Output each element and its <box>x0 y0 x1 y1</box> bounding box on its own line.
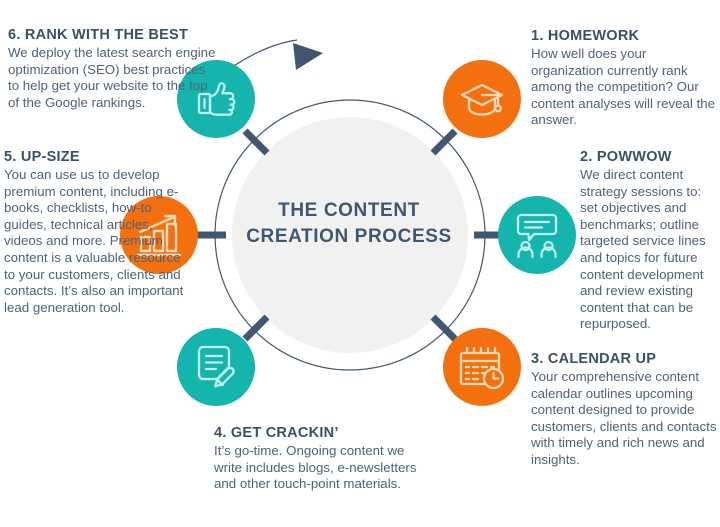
graduation-cap-icon <box>458 75 506 123</box>
step-text-5: 5. UP-SIZE You can use us to develop pre… <box>4 148 190 316</box>
step-title-2: 2. POWWOW <box>580 148 720 166</box>
step-node-3[interactable] <box>443 328 521 406</box>
speech-bubble-people-icon <box>512 210 562 260</box>
calendar-clock-icon <box>457 342 507 392</box>
step-text-1: 1. HOMEWORK How well does your organizat… <box>531 27 717 129</box>
step-text-3: 3. CALENDAR UP Your comprehensive conten… <box>531 350 720 469</box>
flow-arrow-head-icon <box>293 43 323 70</box>
step-body-6: We deploy the latest search engine optim… <box>8 45 220 111</box>
center-title-line2: CREATION PROCESS <box>228 224 470 250</box>
step-body-1: How well does your organization currentl… <box>531 46 717 129</box>
step-body-3: Your comprehensive content calendar outl… <box>531 369 720 469</box>
step-title-6: 6. RANK WITH THE BEST <box>8 26 220 44</box>
step-node-1[interactable] <box>443 60 521 138</box>
step-title-5: 5. UP-SIZE <box>4 148 190 166</box>
step-node-4[interactable] <box>177 328 255 406</box>
step-text-2: 2. POWWOW We direct content strategy ses… <box>580 148 720 333</box>
spoke-step-6 <box>245 131 267 153</box>
step-node-2[interactable] <box>498 196 576 274</box>
step-title-1: 1. HOMEWORK <box>531 27 717 45</box>
step-title-3: 3. CALENDAR UP <box>531 350 720 368</box>
spoke-step-3 <box>433 317 455 339</box>
document-pencil-icon <box>192 343 240 391</box>
step-body-4: It’s go-time. Ongoing content we write i… <box>214 443 426 493</box>
step-title-4: 4. GET CRACKIN’ <box>214 424 426 442</box>
step-body-2: We direct content strategy sessions to: … <box>580 167 720 333</box>
center-title-line1: THE CONTENT <box>278 200 420 221</box>
spoke-step-1 <box>433 131 455 153</box>
step-text-4: 4. GET CRACKIN’ It’s go-time. Ongoing co… <box>214 424 426 493</box>
center-title: THE CONTENT CREATION PROCESS <box>228 198 470 250</box>
infographic-canvas: THE CONTENT CREATION PROCESS 6. RANK WIT… <box>0 0 720 527</box>
step-text-6: 6. RANK WITH THE BEST We deploy the late… <box>8 26 220 111</box>
spoke-step-4 <box>245 317 267 339</box>
step-body-5: You can use us to develop premium conten… <box>4 167 190 316</box>
